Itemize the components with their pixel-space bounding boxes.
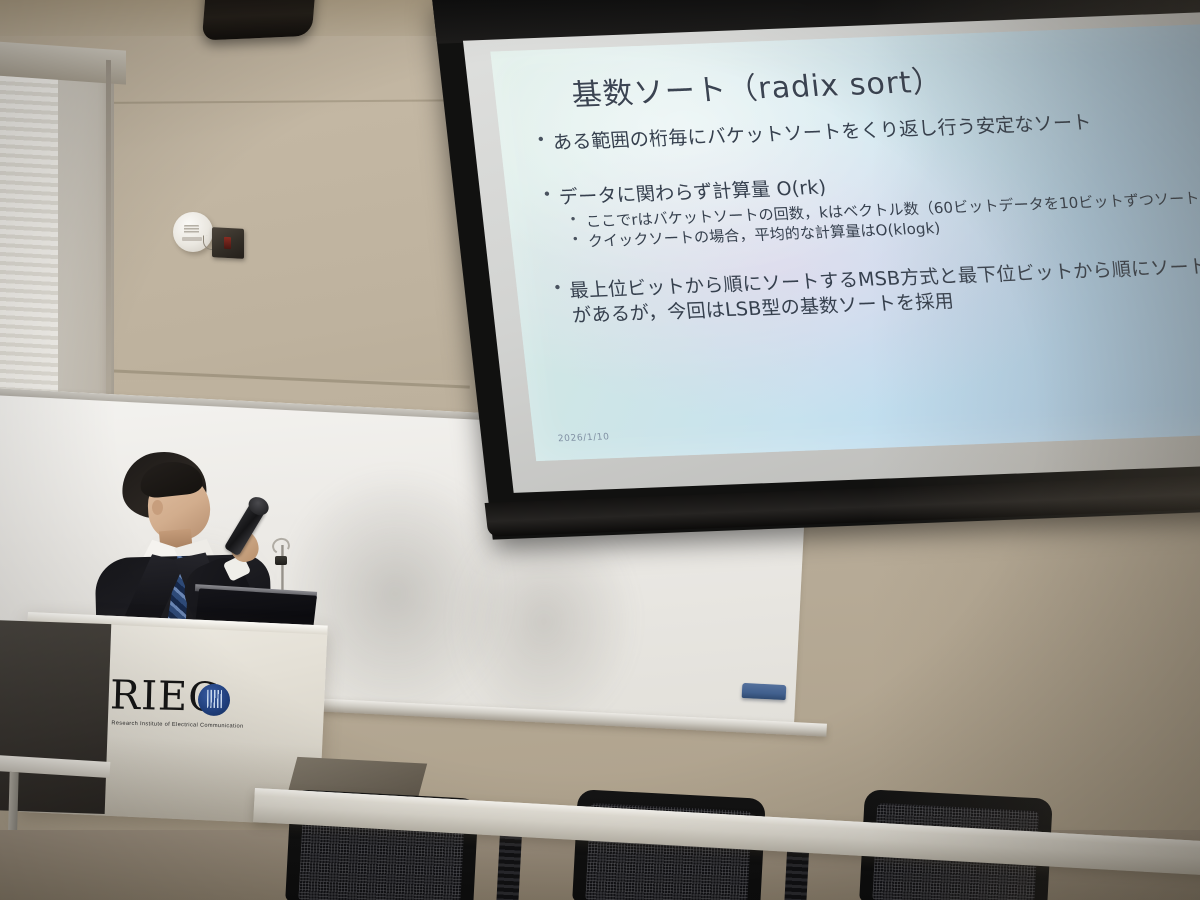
microphone-head [245,493,272,518]
detector-vent [184,225,199,234]
riec-logo-subtitle: Research Institute of Electrical Communi… [111,720,243,729]
slide-body: ある範囲の桁毎にバケットソートをくり返し行う安定なソート データに関わらず計算量… [536,102,1200,332]
chair-gap [496,835,522,900]
ceiling-speaker-icon: Panasonic [202,0,316,41]
riec-logo-globe-lines [207,690,222,708]
projected-slide: 基数ソート（radix sort） ある範囲の桁毎にバケットソートをくり返し行う… [490,23,1200,461]
slide-title: 基数ソート（radix sort） [569,56,945,114]
presenter-ear [152,500,163,515]
wall-plate-led-icon [224,237,231,249]
whiteboard-eraser-icon[interactable] [742,683,787,700]
riec-logo-text: RIEC [110,675,261,719]
projection-screen: 基数ソート（radix sort） ある範囲の桁毎にバケットソートをくり返し行う… [432,0,1200,555]
slide-date: 2026/1/10 [557,432,610,444]
lecture-hall-scene: Panasonic 基数ソート（radix sort） ある範囲の桁毎にバケット… [0,0,1200,900]
riec-logo: RIEC Research Institute of Electrical Co… [109,675,260,741]
wall-control-plate[interactable] [212,227,244,259]
detector-label-strip [182,237,202,241]
